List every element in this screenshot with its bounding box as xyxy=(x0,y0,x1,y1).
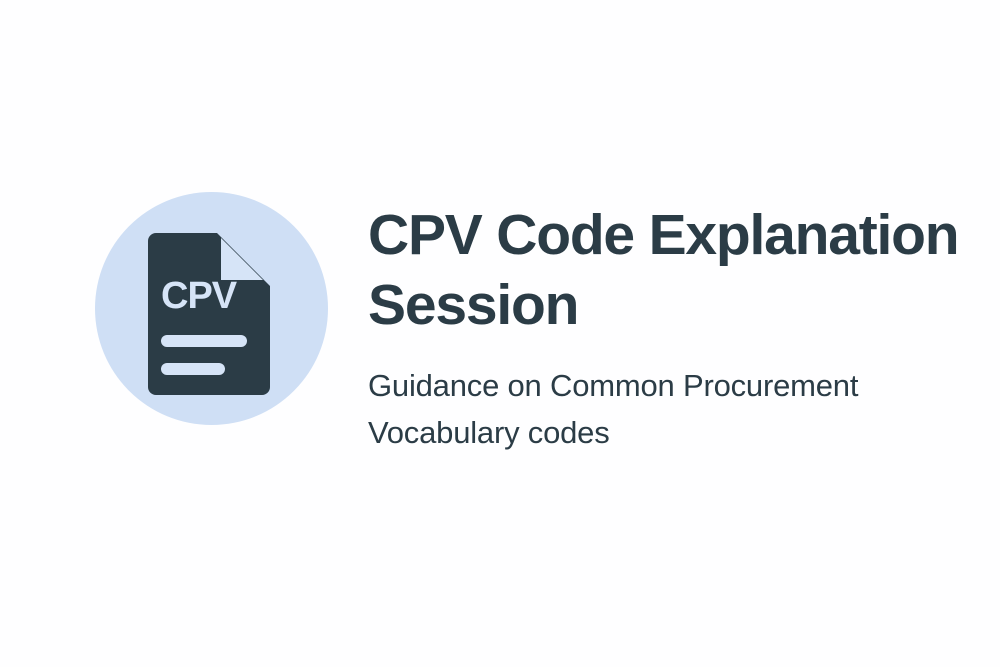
document-badge-text: CPV xyxy=(161,275,238,317)
document-line-2 xyxy=(161,363,225,375)
page-title: CPV Code Explanation Session xyxy=(368,200,968,340)
cpv-document-icon-block: CPV xyxy=(95,192,328,425)
document-cpv-icon: CPV xyxy=(95,192,328,425)
document-line-1 xyxy=(161,335,247,347)
title-slide: CPV CPV Code Explanation Session Guidanc… xyxy=(0,0,1000,667)
page-subtitle: Guidance on Common Procurement Vocabular… xyxy=(368,362,888,456)
heading-block: CPV Code Explanation Session Guidance on… xyxy=(368,200,968,456)
